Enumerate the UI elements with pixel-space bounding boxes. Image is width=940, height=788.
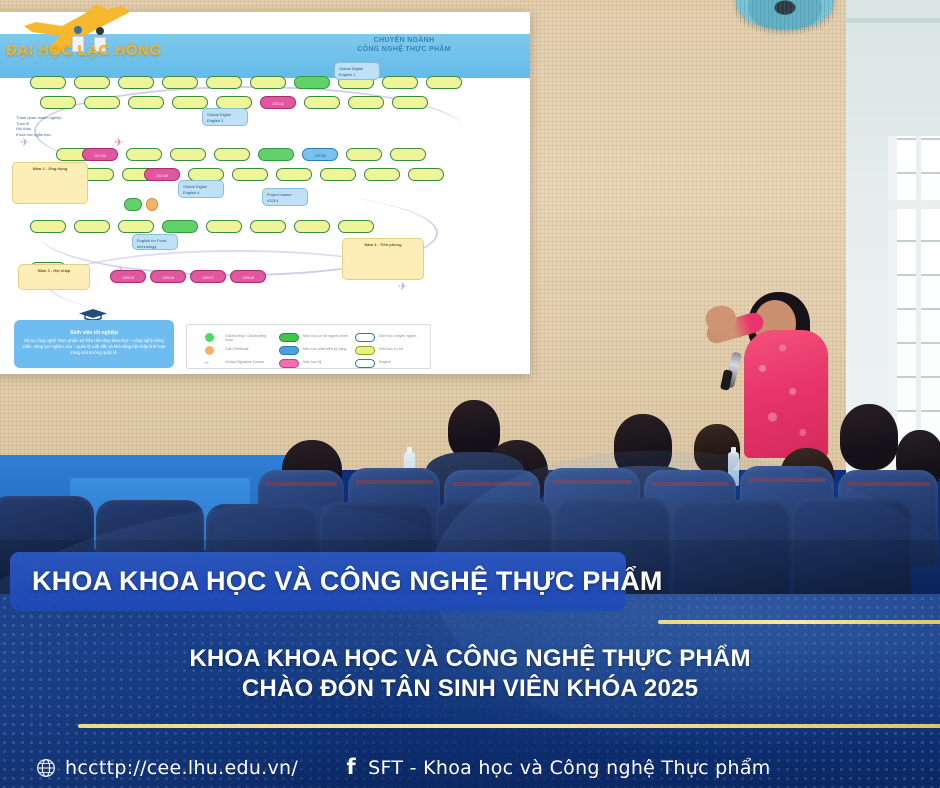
website-url: hccttp://cee.lhu.edu.vn/ bbox=[65, 757, 298, 779]
course-pill bbox=[172, 96, 208, 109]
course-pill bbox=[118, 220, 154, 233]
website-link[interactable]: hccttp://cee.lhu.edu.vn/ bbox=[36, 757, 298, 779]
course-pill bbox=[364, 168, 400, 181]
course-pill-highlight: 109017 bbox=[190, 270, 226, 283]
course-pill-highlight: 102146 bbox=[144, 168, 180, 181]
department-title-text: KHOA KHOA HỌC VÀ CÔNG NGHỆ THỰC PHẨM bbox=[10, 566, 663, 597]
course-code: 109015 bbox=[111, 271, 145, 284]
english-label: Global Digital English 4 bbox=[178, 180, 224, 198]
facebook-icon: f bbox=[344, 757, 358, 779]
status-dot-green bbox=[124, 198, 142, 211]
course-pill bbox=[206, 220, 242, 233]
wall-trim bbox=[846, 18, 940, 23]
course-pill bbox=[426, 76, 462, 89]
graduate-body: Kỹ sư công nghệ Thực phẩm sở hữu nền tản… bbox=[23, 338, 166, 355]
seat-trim bbox=[265, 482, 337, 486]
year-note-bottom: Năm 3 - Hội nhập bbox=[18, 264, 90, 290]
course-pill bbox=[408, 168, 444, 181]
course-pill-highlight: 109016 bbox=[150, 270, 186, 283]
course-pill bbox=[338, 220, 374, 233]
legend-marker-pill-yellow bbox=[355, 346, 375, 355]
course-pill bbox=[346, 148, 382, 161]
gold-divider-left bbox=[78, 724, 940, 728]
course-code: 109018 bbox=[231, 271, 265, 284]
legend-marker-dot-green bbox=[205, 333, 214, 342]
legend-label: Môn học phát triển kỹ năng bbox=[303, 347, 359, 351]
course-code: 109016 bbox=[151, 271, 185, 284]
status-dot-orange bbox=[146, 198, 158, 211]
course-pill bbox=[162, 220, 198, 233]
course-pill bbox=[392, 96, 428, 109]
course-pill bbox=[84, 96, 120, 109]
legend-marker-pill-outline bbox=[355, 359, 375, 368]
course-pill bbox=[214, 148, 250, 161]
course-pill-highlight: 109015 bbox=[110, 270, 146, 283]
graduate-heading: Sinh viên tốt nghiệp bbox=[21, 330, 167, 336]
legend-marker-pill-green bbox=[279, 333, 299, 342]
legend-marker-pill-white bbox=[355, 333, 375, 342]
plane-icon: ✈ bbox=[398, 280, 407, 293]
university-logo: ĐẠI HỌC LẠC HỒNG bbox=[6, 2, 166, 74]
facebook-link[interactable]: f SFT - Khoa học và Công nghệ Thực phẩm bbox=[344, 757, 771, 779]
course-pill-highlight: 109018 bbox=[230, 270, 266, 283]
course-pill-highlight: 102148 bbox=[82, 148, 118, 161]
slide-legend: Giải thưởng / Giải thưởng khoa Giải Cert… bbox=[186, 324, 431, 369]
course-pill bbox=[30, 76, 66, 89]
department-title-banner: KHOA KHOA HỌC VÀ CÔNG NGHỆ THỰC PHẨM bbox=[10, 552, 626, 611]
legend-label: Môn học chuyên ngành bbox=[379, 334, 429, 338]
course-code: 102148 bbox=[83, 149, 117, 162]
legend-label: Global Signature Course bbox=[225, 360, 271, 364]
legend-marker-pill-pink bbox=[279, 359, 299, 368]
course-pill bbox=[206, 76, 242, 89]
seat-trim bbox=[846, 482, 930, 486]
course-pill bbox=[74, 76, 110, 89]
course-code: 102142 bbox=[261, 97, 295, 110]
facebook-page-name: SFT - Khoa học và Công nghệ Thực phẩm bbox=[368, 757, 771, 779]
course-pill bbox=[390, 148, 426, 161]
year-note-right: Năm 4 - Tiên phong bbox=[342, 238, 424, 280]
course-pill bbox=[250, 76, 286, 89]
course-pill bbox=[30, 220, 66, 233]
course-pill bbox=[320, 168, 356, 181]
course-pill: 120106 bbox=[302, 148, 338, 161]
seat-trim bbox=[355, 480, 432, 484]
legend-marker-pill-blue bbox=[279, 346, 299, 355]
english-label: Global Digital English 1 bbox=[334, 62, 380, 80]
course-pill bbox=[74, 220, 110, 233]
audience-head bbox=[840, 404, 898, 470]
legend-label: Môn học kỹ bbox=[303, 360, 359, 364]
course-pill bbox=[126, 148, 162, 161]
english-label: English for Food technology bbox=[132, 234, 178, 250]
legend-marker-arrow-purple: ↔ bbox=[203, 359, 210, 366]
course-pill bbox=[232, 168, 268, 181]
course-code: 109017 bbox=[191, 271, 225, 284]
course-pill bbox=[40, 96, 76, 109]
presenter-ao-dai bbox=[744, 330, 828, 458]
window-mullion-vertical bbox=[916, 136, 921, 480]
legend-marker-dot-orange bbox=[205, 346, 214, 355]
graduate-summary-box: Sinh viên tốt nghiệp Kỹ sư công nghệ Thự… bbox=[14, 320, 174, 368]
course-pill bbox=[128, 96, 164, 109]
course-pill bbox=[170, 148, 206, 161]
course-code: 102146 bbox=[145, 169, 179, 182]
course-pill bbox=[276, 168, 312, 181]
course-pill bbox=[382, 76, 418, 89]
legend-label: Môn học cơ sở bbox=[379, 347, 429, 351]
year-note-left: Năm 2 - Ứng dụng bbox=[12, 162, 88, 204]
legend-label: Giải thưởng / Giải thưởng khoa bbox=[225, 334, 271, 342]
course-pill-highlight: 102142 bbox=[260, 96, 296, 109]
course-pill bbox=[304, 96, 340, 109]
legend-label: English bbox=[379, 360, 429, 364]
headline-line-2: CHÀO ĐÓN TÂN SINH VIÊN KHÓA 2025 bbox=[0, 674, 940, 704]
course-pill bbox=[294, 220, 330, 233]
english-label: Global Digital English 2 bbox=[202, 108, 248, 126]
course-pill bbox=[118, 76, 154, 89]
globe-icon bbox=[36, 758, 56, 778]
course-pill bbox=[258, 148, 294, 161]
course-pill bbox=[348, 96, 384, 109]
course-pill bbox=[294, 76, 330, 89]
gold-divider-right bbox=[658, 620, 940, 624]
headline-line-1: KHOA KHOA HỌC VÀ CÔNG NGHỆ THỰC PHẨM bbox=[189, 645, 750, 672]
event-headline: KHOA KHOA HỌC VÀ CÔNG NGHỆ THỰC PHẨM CHÀ… bbox=[0, 644, 940, 704]
course-code: 120106 bbox=[303, 149, 337, 162]
window-mullion-horizontal bbox=[888, 200, 940, 209]
logo-text: ĐẠI HỌC LẠC HỒNG bbox=[6, 42, 166, 59]
course-pill bbox=[162, 76, 198, 89]
plane-icon: ✈ bbox=[114, 136, 123, 149]
banner-footer: hccttp://cee.lhu.edu.vn/ f SFT - Khoa họ… bbox=[0, 748, 940, 788]
poster-root: CHUYÊN NGÀNH CÔNG NGHỆ THỰC PHẨM ✈ ✈ ✈ ✈ bbox=[0, 0, 940, 788]
project-label: Project based 43214 bbox=[262, 188, 308, 206]
legend-label: Giải Certificate bbox=[225, 347, 271, 351]
legend-label: Môn học cơ sở ngành chính bbox=[303, 334, 359, 338]
activity-list: Tham quan doanh nghiệp Tuần lễ Hội thảo … bbox=[12, 112, 70, 152]
course-pill bbox=[250, 220, 286, 233]
